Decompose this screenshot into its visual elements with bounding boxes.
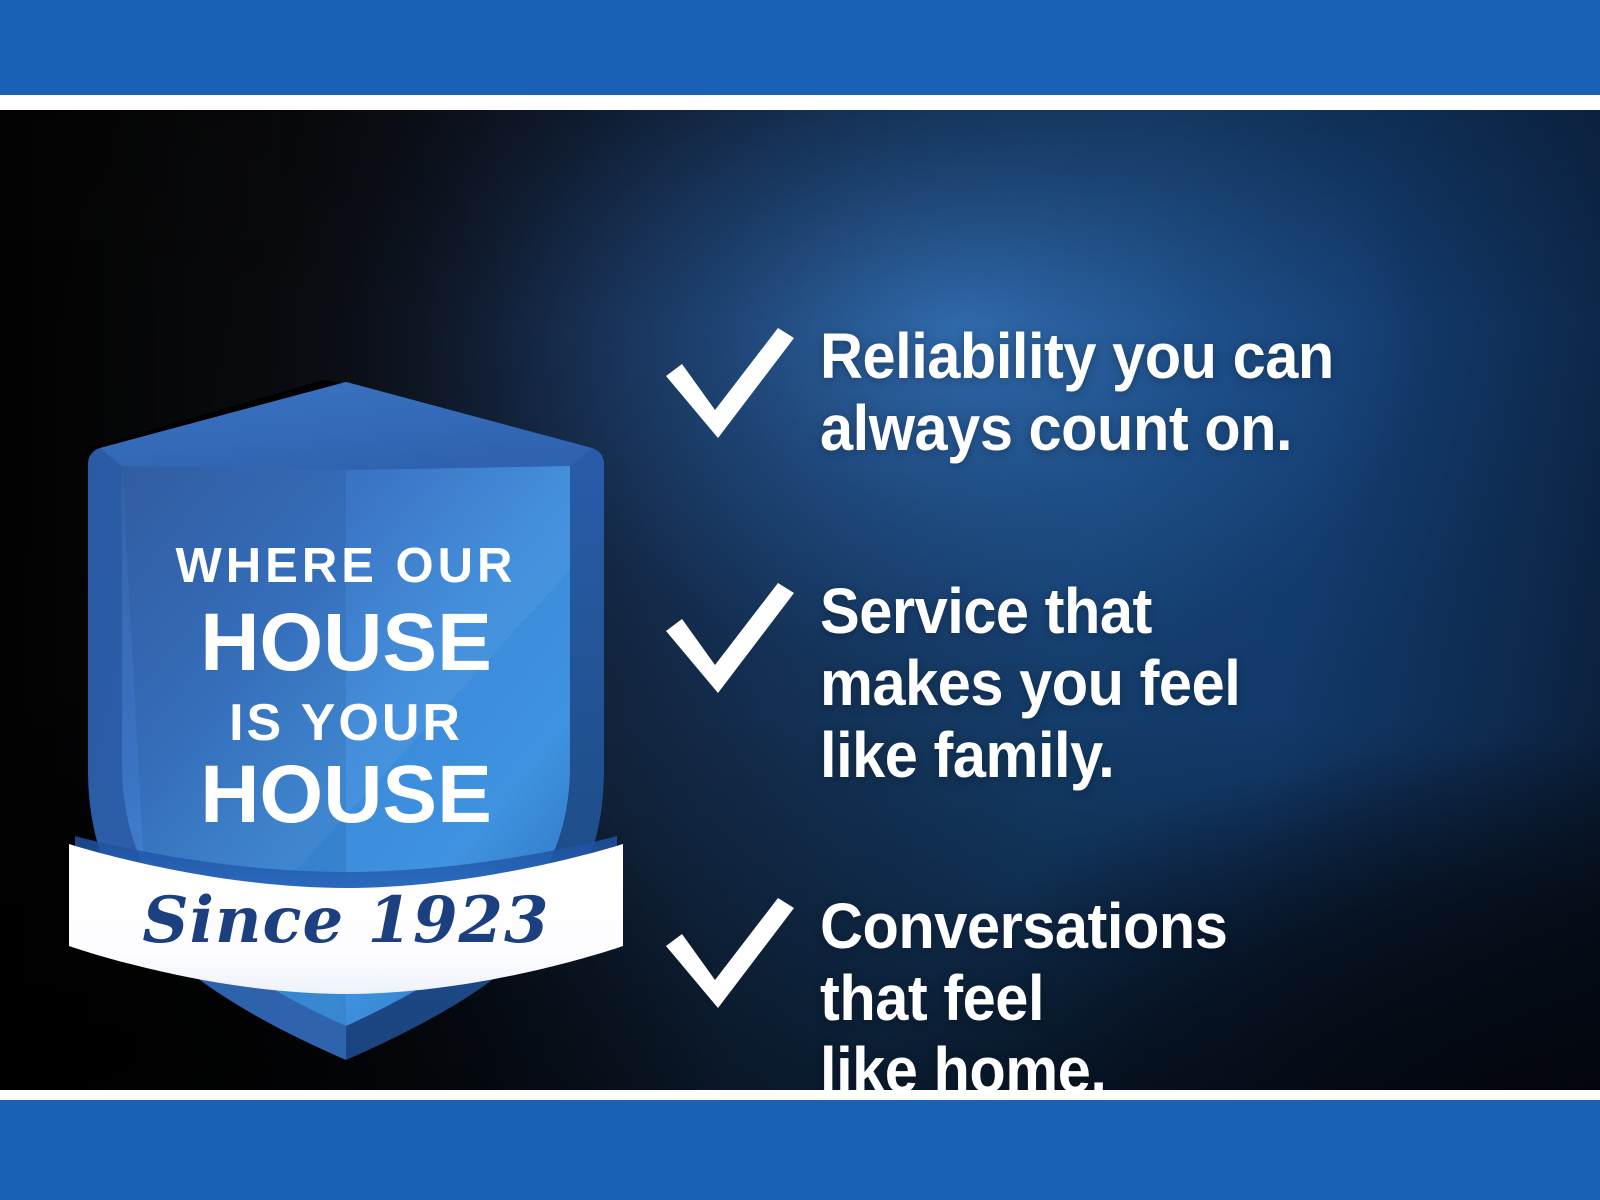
list-item-text: Reliability you can always count on. bbox=[820, 320, 1490, 464]
check-icon bbox=[660, 575, 820, 697]
company-shield-emblem: WHERE OUR HOUSE IS YOUR HOUSE Since 1923 bbox=[55, 270, 635, 1070]
shield-line-2: HOUSE bbox=[200, 597, 492, 688]
shield-line-4: HOUSE bbox=[200, 749, 492, 840]
list-item-text: Service that makes you feel like family. bbox=[820, 575, 1490, 791]
since-year-text: Since 1923 bbox=[142, 883, 549, 958]
list-item-text: Conversations that feel like home. bbox=[820, 890, 1490, 1090]
check-icon bbox=[660, 890, 820, 1012]
list-item: Reliability you can always count on. bbox=[660, 320, 1540, 464]
top-divider-strip bbox=[0, 95, 1600, 110]
bottom-brand-bar bbox=[0, 1100, 1600, 1200]
list-item: Conversations that feel like home. bbox=[660, 890, 1540, 1090]
shield-line-1: WHERE OUR bbox=[176, 539, 517, 593]
shield-line-3: IS YOUR bbox=[229, 694, 463, 752]
check-icon bbox=[660, 320, 820, 442]
main-stage: WHERE OUR HOUSE IS YOUR HOUSE Since 1923 bbox=[0, 110, 1600, 1090]
bottom-divider-strip bbox=[0, 1090, 1600, 1100]
promo-graphic: WHERE OUR HOUSE IS YOUR HOUSE Since 1923 bbox=[0, 0, 1600, 1200]
stage-noise-texture bbox=[0, 110, 280, 240]
benefits-list: Reliability you can always count on. Ser… bbox=[660, 220, 1540, 1090]
list-item: Service that makes you feel like family. bbox=[660, 575, 1540, 791]
top-brand-bar bbox=[0, 0, 1600, 95]
